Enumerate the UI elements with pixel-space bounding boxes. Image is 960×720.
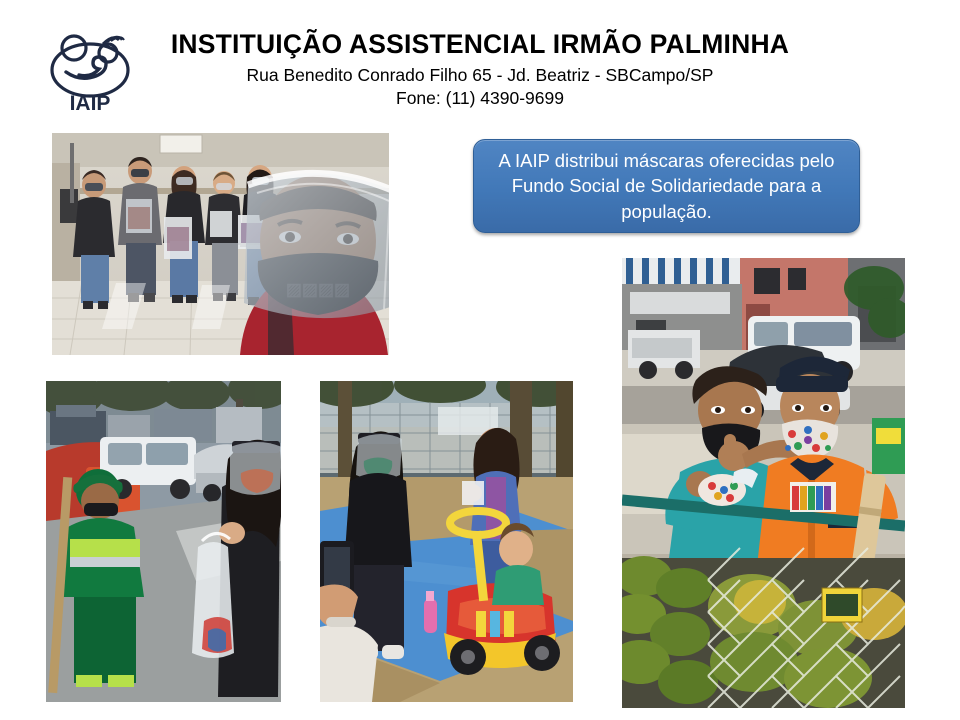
organization-address: Rua Benedito Conrado Filho 65 - Jd. Beat… — [150, 63, 810, 87]
organization-phone: Fone: (11) 4390-9699 — [150, 86, 810, 110]
team-photo-image: ▨▨▨▨ — [52, 133, 389, 355]
page-header: IAIP INSTITUIÇÃO ASSISTENCIAL IRMÃO PALM… — [0, 0, 960, 118]
square-photo: Na praça Portugal — [320, 381, 573, 702]
callout-box: A IAIP distribui máscaras oferecidas pel… — [473, 139, 860, 233]
street-photo: Na rua — [46, 381, 281, 702]
organization-name: INSTITUIÇÃO ASSISTENCIAL IRMÃO PALMINHA — [150, 28, 810, 60]
team-photo: ▨▨▨▨ A Equipe — [52, 133, 389, 355]
market-photo-image — [622, 258, 905, 708]
square-photo-image — [320, 381, 573, 702]
market-photo: Na Feira — [622, 258, 905, 708]
callout-text: A IAIP distribui máscaras oferecidas pel… — [474, 148, 859, 225]
logo-text: IAIP — [70, 92, 111, 114]
street-photo-image — [46, 381, 281, 702]
iaip-logo: IAIP — [40, 22, 140, 114]
